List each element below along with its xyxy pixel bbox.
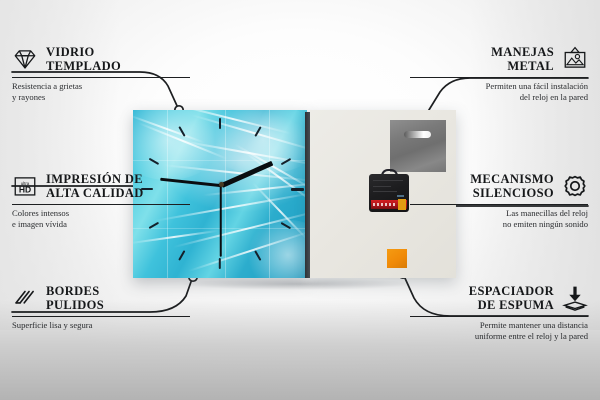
picture-frame-hanger-icon: [562, 46, 588, 72]
feature-description: Las manecillas del reloj no emiten ningú…: [410, 208, 588, 229]
battery-label-stripes: [373, 203, 395, 206]
diamond-icon: [12, 46, 38, 72]
feature-divider: [12, 77, 190, 78]
feature-title: MECANISMO SILENCIOSO: [470, 172, 554, 200]
foam-spacer-pad: [387, 249, 407, 268]
feature-title: IMPRESIÓN DE ALTA CALIDAD: [46, 172, 144, 200]
gear-icon: [562, 173, 588, 199]
feature-description: Permiten una fácil instalación del reloj…: [410, 81, 588, 102]
ultra-hd-icon: ultra HD: [12, 173, 38, 199]
svg-text:HD: HD: [19, 185, 31, 195]
clock-second-hand: [220, 185, 222, 257]
feature-description: Permite mantener una distancia uniforme …: [410, 320, 588, 341]
feature-title: MANEJAS METAL: [491, 45, 554, 73]
feature-impresion-alta-calidad: ultra HD IMPRESIÓN DE ALTA CALIDAD Color…: [12, 172, 190, 229]
feature-description: Resistencia a grietas y rayones: [12, 81, 190, 102]
feature-description: Colores intensos e imagen vívida: [12, 208, 190, 229]
feature-bordes-pulidos: BORDES PULIDOS Superficie lisa y segura: [12, 284, 190, 331]
foam-spacer-icon: [562, 285, 588, 311]
metal-hanger-bracket: [390, 120, 446, 172]
battery-positive-tip: [398, 199, 406, 210]
feature-divider: [410, 77, 588, 78]
feature-divider: [410, 316, 588, 317]
feature-divider: [12, 316, 190, 317]
infographic-canvas: VIDRIO TEMPLADO Resistencia a grietas y …: [0, 0, 600, 400]
feature-espaciador-espuma: ESPACIADOR DE ESPUMA Permite mantener un…: [410, 284, 588, 341]
clock-hand-cap: [219, 182, 224, 187]
feature-description: Superficie lisa y segura: [12, 320, 190, 330]
feature-divider: [410, 204, 588, 205]
feature-title: VIDRIO TEMPLADO: [46, 45, 121, 73]
polished-edges-icon: [12, 285, 38, 311]
feature-title: ESPACIADOR DE ESPUMA: [469, 284, 554, 312]
feature-title: BORDES PULIDOS: [46, 284, 104, 312]
feature-vidrio-templado: VIDRIO TEMPLADO Resistencia a grietas y …: [12, 45, 190, 102]
feature-manejas-metal: MANEJAS METAL Permiten una fácil instala…: [410, 45, 588, 102]
feature-divider: [12, 204, 190, 205]
hanger-slot: [404, 131, 431, 138]
feature-mecanismo-silencioso: MECANISMO SILENCIOSO Las manecillas del …: [410, 172, 588, 229]
